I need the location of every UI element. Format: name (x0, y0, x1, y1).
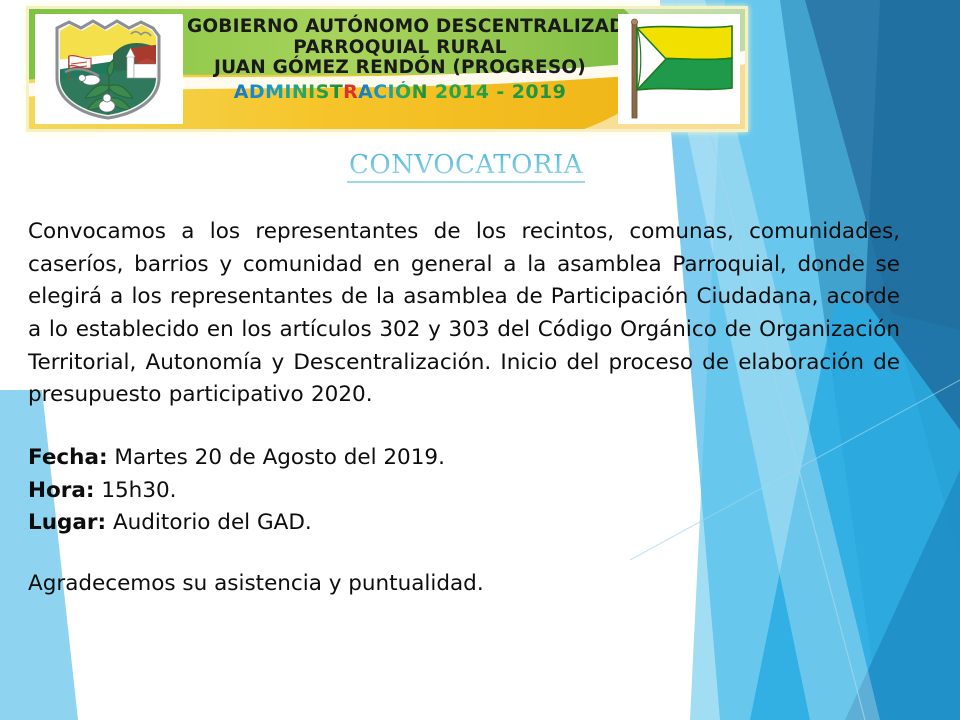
page-title: CONVOCATORIA (28, 150, 904, 182)
detail-value-lugar: Auditorio del GAD. (113, 510, 312, 535)
banner-title-block: GOBIERNO AUTÓNOMO DESCENTRALIZADO PARROQ… (187, 17, 613, 103)
convocation-paragraph: Convocamos a los representantes de los r… (28, 216, 900, 412)
detail-value-fecha: Martes 20 de Agosto del 2019. (114, 445, 445, 470)
slide-canvas: GOBIERNO AUTÓNOMO DESCENTRALIZADO PARROQ… (0, 0, 960, 720)
banner-line-1: GOBIERNO AUTÓNOMO DESCENTRALIZADO (187, 17, 613, 38)
closing-line: Agradecemos su asistencia y puntualidad. (28, 568, 904, 601)
detail-value-hora: 15h30. (101, 478, 176, 503)
detail-label-hora: Hora: (28, 478, 94, 503)
administration-word-a: ADMINIST (234, 81, 343, 103)
detail-row-hora: Hora: 15h30. (28, 475, 904, 508)
header-banner: GOBIERNO AUTÓNOMO DESCENTRALIZADO PARROQ… (26, 6, 748, 132)
banner-line-2: PARROQUIAL RURAL (187, 38, 613, 59)
parish-flag-icon (618, 14, 740, 124)
detail-label-lugar: Lugar: (28, 510, 106, 535)
page-title-text: CONVOCATORIA (347, 150, 585, 183)
detail-label-fecha: Fecha: (28, 445, 108, 470)
coat-of-arms-icon (35, 14, 183, 124)
banner-line-3: JUAN GÓMEZ RENDÓN (PROGRESO) (187, 58, 613, 79)
administration-word-r: R (343, 81, 358, 103)
document-body: CONVOCATORIA Convocamos a los representa… (28, 150, 904, 601)
administration-word-b: ACIÓN (358, 81, 428, 103)
banner-administration-line: ADMINISTRACIÓN 2014 - 2019 (187, 82, 613, 103)
administration-years: 2014 - 2019 (435, 81, 566, 103)
detail-row-fecha: Fecha: Martes 20 de Agosto del 2019. (28, 442, 904, 475)
detail-row-lugar: Lugar: Auditorio del GAD. (28, 507, 904, 540)
